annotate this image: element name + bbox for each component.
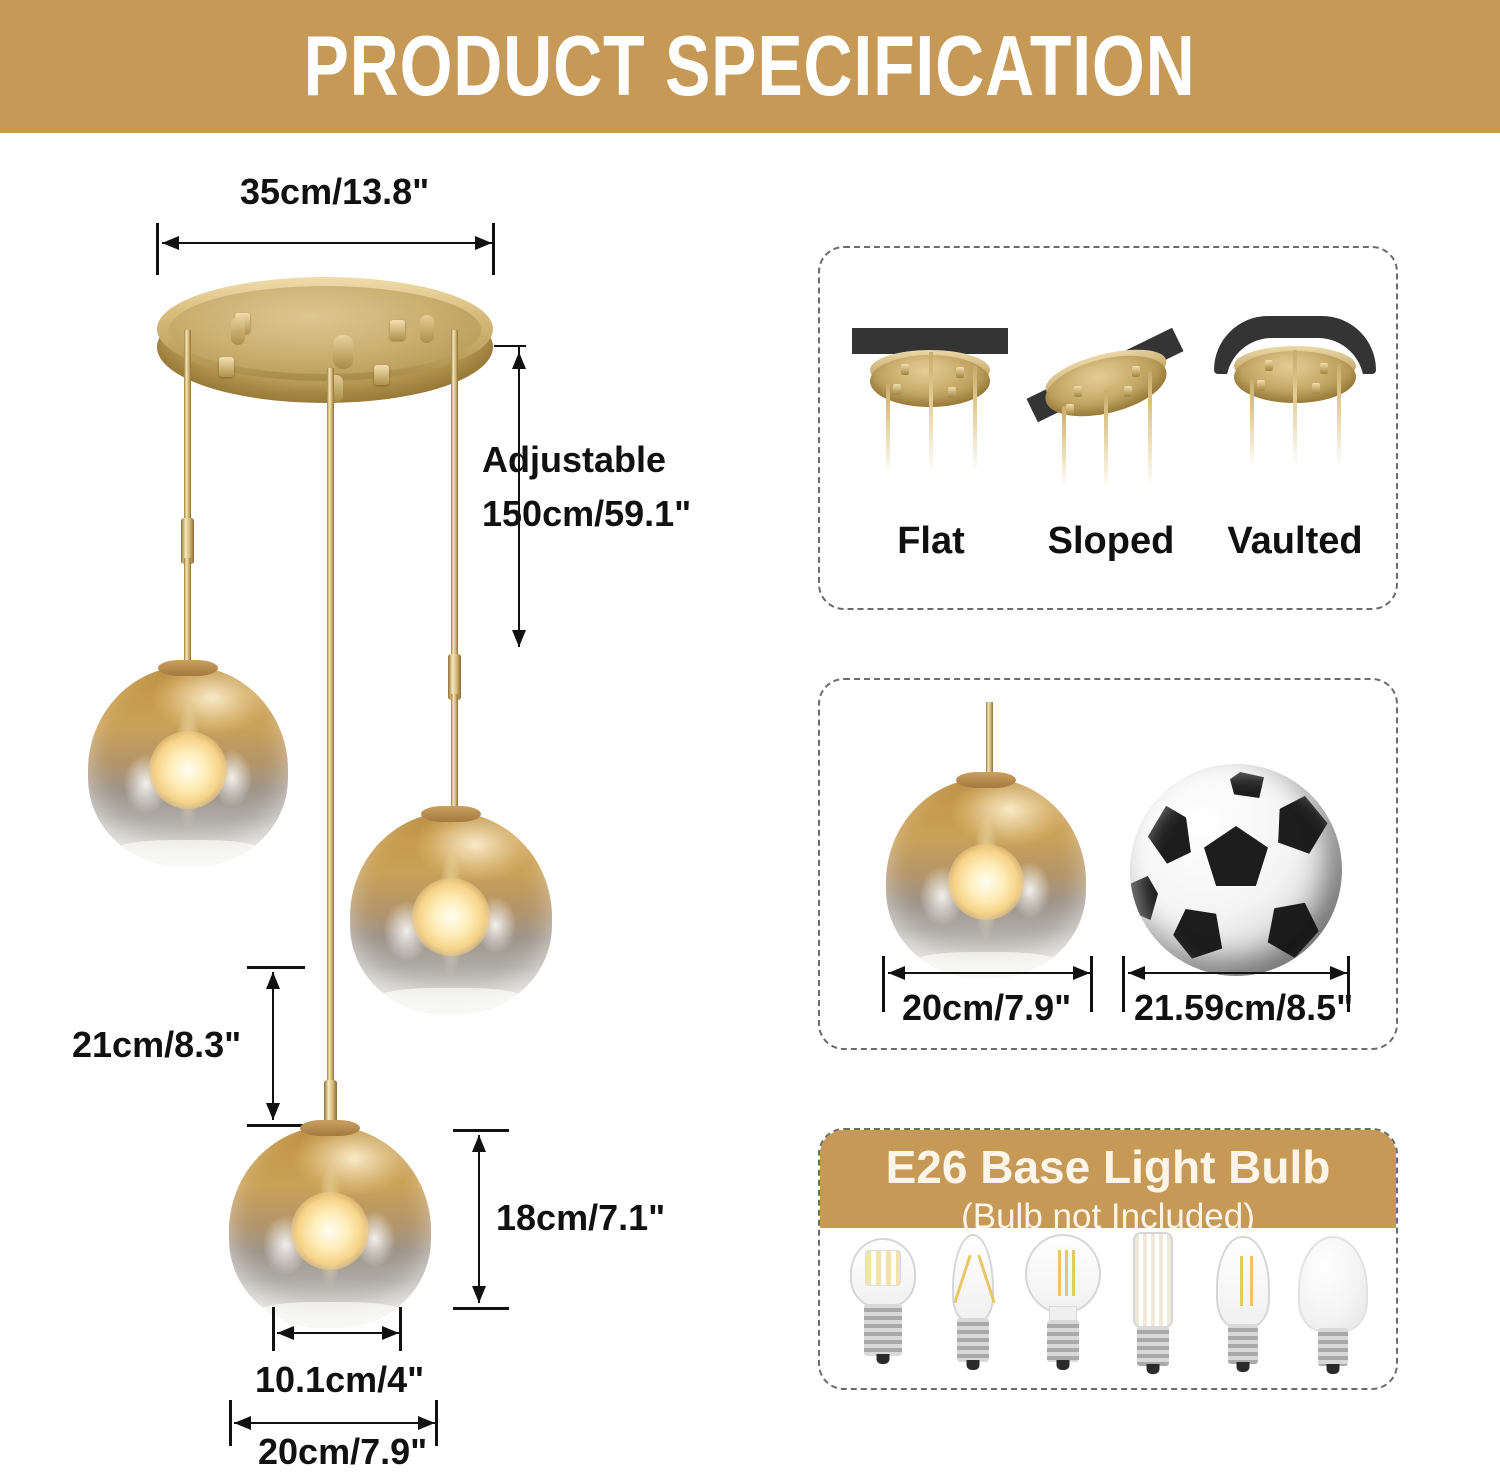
canopy-screw [390, 320, 405, 340]
bulb-glow [412, 878, 490, 956]
page-header-banner: PRODUCT SPECIFICATION [0, 0, 1500, 133]
mount-screw [901, 364, 909, 375]
bulb-tip [1057, 1360, 1070, 1370]
dim-tick-top-18 [453, 1129, 509, 1132]
dimension-shade-height: 18cm/7.1" [496, 1198, 665, 1238]
dim-arrow-shade-height [478, 1135, 480, 1303]
pendant-shade-middle [350, 812, 552, 1014]
dimension-adjustable-line1: Adjustable [482, 440, 691, 480]
mount-screw [1257, 380, 1265, 391]
mount-screw [1265, 360, 1273, 371]
dim-tick-right-shade [1090, 956, 1093, 1012]
dim-arrow-canopy-width [162, 242, 492, 244]
product-specification-page: PRODUCT SPECIFICATION 35cm/13.8" [0, 0, 1500, 1476]
mount-screw [893, 384, 901, 395]
suspension-rod-left [184, 330, 191, 525]
dim-arrow-shade-compare [888, 972, 1090, 974]
ceiling-type-panel: Flat Sloped V [818, 246, 1398, 610]
dimension-bottom-opening: 10.1cm/4" [255, 1360, 424, 1400]
bulb-filament [1065, 1250, 1068, 1296]
dim-tick-left-101 [272, 1307, 275, 1351]
mount-wire [1337, 364, 1341, 464]
bulb-glow [149, 731, 227, 809]
dim-tick-bottom-21 [247, 1124, 305, 1127]
bulb-tip [877, 1354, 890, 1364]
bulb-filament [1250, 1256, 1253, 1306]
a19-frosted-led-bulb-icon [1288, 1232, 1378, 1382]
dimension-canopy-width: 35cm/13.8" [240, 172, 429, 212]
mount-wire [1148, 372, 1152, 484]
ball-seam [1130, 764, 1342, 976]
shade-collar [421, 806, 481, 822]
mount-wire [1104, 390, 1108, 486]
mount-wire [1062, 406, 1066, 484]
mount-screw [1312, 383, 1320, 394]
shade-collar [300, 1120, 360, 1136]
canopy-screw [219, 357, 234, 377]
led-corn-tube-bulb-icon [1108, 1232, 1198, 1382]
bulb-glass [1133, 1232, 1173, 1328]
bulb-filament [1058, 1250, 1061, 1296]
st64-edison-filament-bulb-icon [1198, 1232, 1288, 1382]
bulb-tip [967, 1360, 980, 1370]
bulb-tip [1327, 1364, 1340, 1374]
ceiling-canopy-plate [157, 277, 493, 409]
g25-globe-filament-bulb-icon [1018, 1232, 1108, 1382]
dim-tick-left [156, 223, 159, 275]
bulb-glass [1025, 1234, 1101, 1314]
dimension-adjustable-line2: 150cm/59.1" [482, 494, 691, 534]
bulb-glass [1216, 1236, 1270, 1328]
mount-wire [1250, 380, 1254, 464]
mount-screw [1066, 404, 1074, 415]
dim-tick-bottom-18 [453, 1307, 509, 1310]
bulb-panel-title: E26 Base Light Bulb [820, 1142, 1396, 1194]
suspension-rod-left-lower [184, 558, 191, 668]
dim-arrow-drop-offset [272, 972, 274, 1120]
ceiling-type-label-vaulted: Vaulted [1210, 520, 1380, 563]
soccer-ball-icon [1130, 764, 1342, 976]
size-comparison-panel: 20cm/7.9" 21.59cm/8.5" [818, 678, 1398, 1050]
dim-tick-right [492, 223, 495, 275]
bulb-led-chip [865, 1250, 901, 1286]
pendant-shade-lower [229, 1126, 431, 1328]
suspension-rod-right-lower [451, 694, 458, 814]
bulb-filament [1072, 1250, 1075, 1296]
dim-leader-adjustable [494, 345, 526, 347]
dimension-drop-offset: 21cm/8.3" [72, 1025, 241, 1065]
led-corn-globe-bulb-icon [838, 1232, 928, 1382]
bulb-e26-base [1228, 1324, 1258, 1364]
canopy-rim-inner [169, 286, 481, 374]
canopy-center-hook [333, 335, 353, 369]
mount-screw [1320, 363, 1328, 374]
mount-screw [1074, 386, 1082, 397]
flat-ceiling-mount-icon [848, 322, 1014, 482]
dim-arrow-shade-width [234, 1422, 435, 1424]
mount-screw [1132, 366, 1140, 377]
mount-screw [956, 367, 964, 378]
bulb-e26-base [1318, 1328, 1348, 1366]
bulb-glow [948, 844, 1024, 920]
dim-tick-left-shade [882, 956, 885, 1012]
ceiling-type-label-sloped: Sloped [1028, 520, 1194, 563]
mount-screw [948, 387, 956, 398]
bulb-e26-base [864, 1304, 902, 1356]
dim-tick-top-21 [247, 966, 305, 969]
bulb-e26-base [957, 1318, 989, 1362]
bulb-panel-header: E26 Base Light Bulb (Bulb not Included) [820, 1130, 1396, 1228]
bulb-tip [1147, 1364, 1160, 1374]
dim-tick-left-20 [229, 1400, 232, 1446]
bulb-glow [291, 1192, 369, 1270]
dim-tick-right-20 [435, 1400, 438, 1446]
bulb-type-row [820, 1234, 1396, 1382]
dimension-adjustable: Adjustable 150cm/59.1" [482, 440, 691, 535]
dimension-shade-compare: 20cm/7.9" [902, 988, 1071, 1028]
bulb-e26-base [1137, 1326, 1169, 1366]
bulb-tip [1237, 1362, 1250, 1372]
canopy-screw [374, 365, 389, 385]
mount-wire [929, 352, 933, 470]
bulb-panel: E26 Base Light Bulb (Bulb not Included) [818, 1128, 1398, 1390]
pendant-shade-upper-left [88, 666, 288, 866]
dimension-shade-width: 20cm/7.9" [258, 1432, 427, 1472]
canopy-cord-grip [231, 317, 245, 345]
ceiling-type-label-flat: Flat [848, 520, 1014, 563]
suspension-rod-right [451, 330, 458, 660]
dimension-ball-compare: 21.59cm/8.5" [1134, 988, 1353, 1028]
pendant-shade-icon [886, 778, 1086, 978]
bulb-e26-base [1047, 1320, 1079, 1362]
dim-arrow-ball-compare [1128, 972, 1347, 974]
candle-filament-bulb-icon [928, 1232, 1018, 1382]
sloped-ceiling-mount-icon [1028, 310, 1194, 485]
dim-arrow-bottom-opening [277, 1332, 399, 1334]
suspension-rod-center [327, 368, 334, 1098]
mount-wire [1293, 350, 1297, 464]
mount-wire [973, 366, 977, 470]
shade-collar [956, 772, 1016, 788]
bulb-glass [1298, 1236, 1368, 1332]
mount-screw [1124, 386, 1132, 397]
canopy-cord-grip [420, 315, 434, 343]
mount-wire [886, 384, 890, 472]
page-title: PRODUCT SPECIFICATION [304, 24, 1196, 109]
dim-tick-left-ball [1122, 956, 1125, 1012]
vaulted-ceiling-mount-icon [1210, 314, 1380, 484]
shade-collar [158, 660, 218, 676]
dim-tick-right-101 [399, 1307, 402, 1351]
bulb-filament [1240, 1256, 1243, 1306]
